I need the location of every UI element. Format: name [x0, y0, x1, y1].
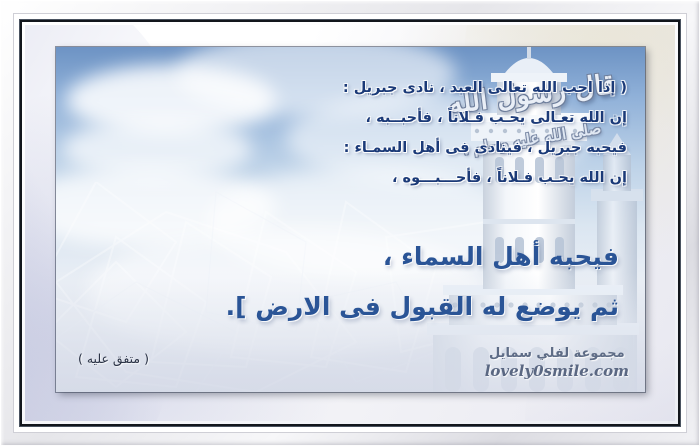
watermark-arabic: مجموعة لفلي سمايل [485, 346, 629, 361]
watermark: مجموعة لفلي سمايل lovely0smile.com [485, 346, 629, 380]
text-layer: قال رسول الله صلى الله عليه وسلم : ( إذا… [56, 47, 645, 392]
hadith-text-block: ( إذا احب الله تعالى العبد ، نادى جبريل … [207, 73, 627, 193]
emphasis-line-2: ثم يوضع له القبول فى الارض ]. [149, 282, 619, 332]
outer-frame: قال رسول الله صلى الله عليه وسلم : ( إذا… [0, 0, 700, 446]
hadith-line-3: فيحبه جبريل ، فينادى فى أهل السمـاء : [207, 133, 627, 163]
hadith-line-1: ( إذا احب الله تعالى العبد ، نادى جبريل … [207, 73, 627, 103]
hadith-card-image: قال رسول الله صلى الله عليه وسلم : ( إذا… [56, 47, 645, 392]
watermark-url: lovely0smile.com [485, 362, 629, 380]
hadith-line-2: إن الله تعـالى يحـب فـلاناً ، فأحبــبه ، [207, 103, 627, 133]
hadith-line-4: إن الله يحـب فـلاناً ، فأحـــبـــوه ، [207, 163, 627, 193]
hadith-attribution: ( متفق عليه ) [78, 351, 149, 366]
hadith-emphasis-block: فيحبه أهل السماء ، ثم يوضع له القبول فى … [149, 232, 619, 332]
emphasis-line-1: فيحبه أهل السماء ، [149, 232, 619, 282]
